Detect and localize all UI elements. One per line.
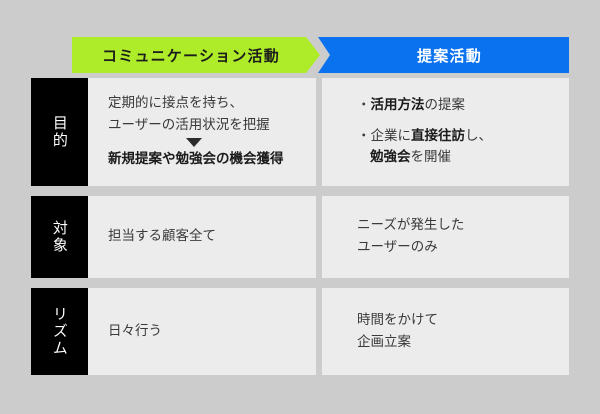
bullet-segment: 活用方法 <box>371 97 425 113</box>
cell-text-line: 企画立案 <box>357 332 569 354</box>
header-tab-communication: コミュニケーション活動 <box>72 37 320 73</box>
cell-rhythm-proposal: 時間をかけて 企画立案 <box>322 288 569 375</box>
header-tab-communication-label: コミュニケーション活動 <box>102 45 280 66</box>
row-label-target-text: 対象 <box>50 220 69 254</box>
cell-text-line: 日々行う <box>108 321 316 343</box>
table-row: 目的 定期的に接点を持ち、 ユーザーの活用状況を把握 新規提案や勉強会の機会獲得… <box>31 78 569 186</box>
cell-text-line: ユーザーのみ <box>357 237 569 259</box>
bullet-segment: 直接往訪 <box>411 128 465 144</box>
cell-text-line: 担当する顧客全て <box>108 226 316 248</box>
cell-text-line: 時間をかけて <box>357 310 569 332</box>
header-tab-proposal: 提案活動 <box>318 37 569 73</box>
bullet-segment: 勉強会 <box>370 149 411 165</box>
bullet-segment: の提案 <box>425 97 466 113</box>
row-label-purpose: 目的 <box>31 78 88 186</box>
bullet-marker: ・ <box>357 97 371 113</box>
cell-rhythm-communication: 日々行う <box>88 288 316 375</box>
row-label-rhythm-text: リズム <box>50 306 69 357</box>
cell-text-line: ニーズが発生した <box>357 215 569 237</box>
bullet-spacer <box>357 117 569 126</box>
cell-target-proposal: ニーズが発生した ユーザーのみ <box>322 196 569 278</box>
cell-conclusion-text: 新規提案や勉強会の機会獲得 <box>108 149 316 171</box>
header-tab-proposal-label: 提案活動 <box>417 45 482 66</box>
bullet-segment: を開催 <box>411 149 452 165</box>
row-label-target: 対象 <box>31 196 88 278</box>
row-label-rhythm: リズム <box>31 288 88 375</box>
bullet-item-continuation: 勉強会を開催 <box>357 147 569 169</box>
cell-purpose-communication: 定期的に接点を持ち、 ユーザーの活用状況を把握 新規提案や勉強会の機会獲得 <box>88 78 316 186</box>
bullet-segment: し、 <box>465 128 492 144</box>
row-label-purpose-text: 目的 <box>50 115 69 149</box>
bullet-item: ・企業に直接往訪し、 <box>357 126 569 148</box>
bullet-segment: 企業に <box>371 128 412 144</box>
cell-text-line: 定期的に接点を持ち、 <box>108 93 316 115</box>
down-arrow-icon <box>186 138 202 147</box>
table-row: 対象 担当する顧客全て ニーズが発生した ユーザーのみ <box>31 196 569 278</box>
bullet-marker: ・ <box>357 128 371 144</box>
cell-text-line: ユーザーの活用状況を把握 <box>108 115 316 137</box>
cell-target-communication: 担当する顧客全て <box>88 196 316 278</box>
table-row: リズム 日々行う 時間をかけて 企画立案 <box>31 288 569 375</box>
comparison-table-board: コミュニケーション活動 提案活動 目的 定期的に接点を持ち、 ユーザーの活用状況… <box>0 0 600 414</box>
cell-purpose-proposal: ・活用方法の提案 ・企業に直接往訪し、 勉強会を開催 <box>322 78 569 186</box>
bullet-item: ・活用方法の提案 <box>357 95 569 117</box>
